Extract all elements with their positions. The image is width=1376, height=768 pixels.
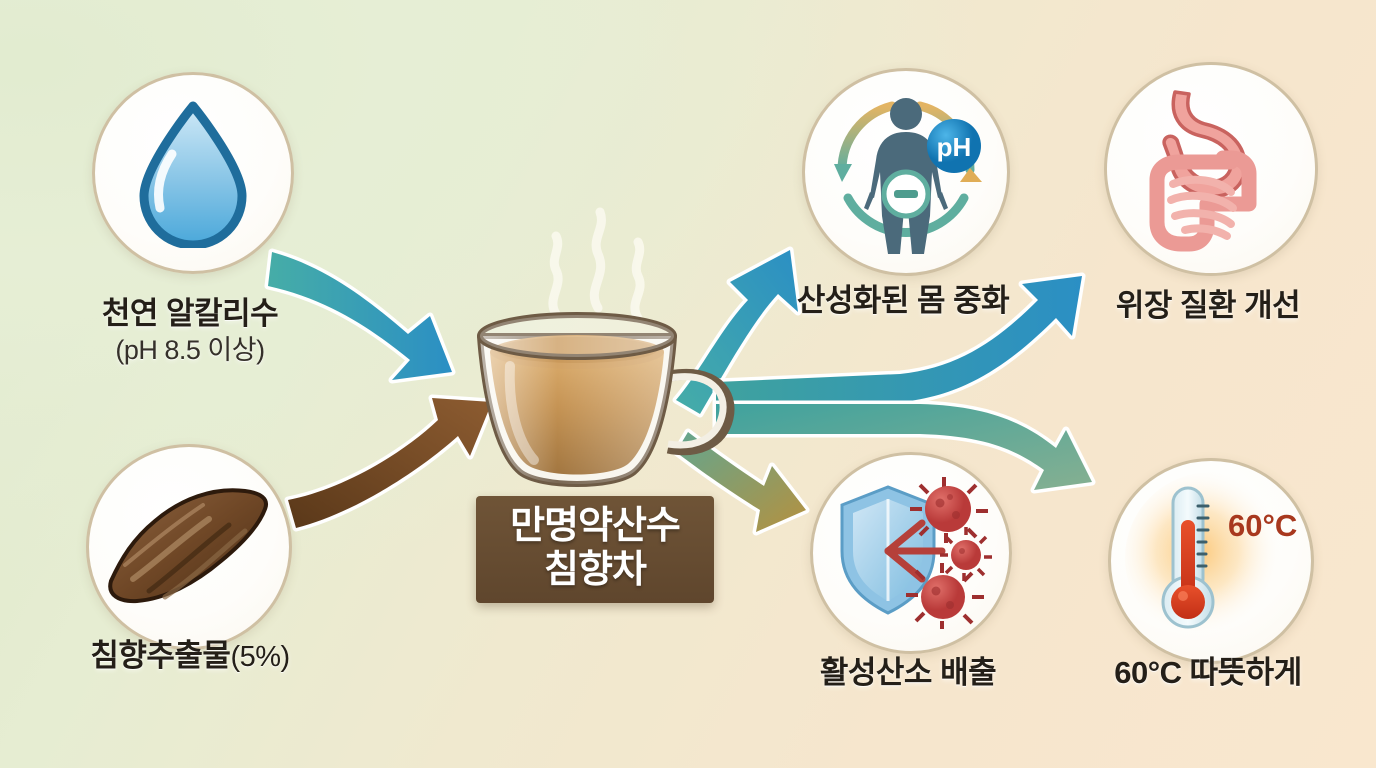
- water-drop-icon: [128, 98, 258, 248]
- label-body-neutralize-text: 산성화된 몸 중화: [797, 283, 1009, 318]
- steam-icon: [553, 212, 640, 318]
- label-alkaline-water-sub: (pH 8.5 이상): [40, 335, 340, 366]
- agarwood-icon: [103, 481, 275, 613]
- node-free-radical-release[interactable]: [810, 452, 1012, 654]
- label-gastro-improve: 위장 질환 개선: [1070, 288, 1346, 323]
- virus-icon-third: [906, 563, 984, 629]
- node-agarwood-extract[interactable]: [86, 444, 292, 650]
- label-alkaline-water: 천연 알칼리수 (pH 8.5 이상): [40, 296, 340, 366]
- label-warm-60c-text: 60°C 따뜻하게: [1114, 655, 1301, 690]
- label-agarwood-main: 침향추출물: [90, 638, 230, 673]
- product-name-badge: 만명약산수 침향차: [476, 496, 714, 603]
- label-agarwood-suffix: (5%): [230, 641, 289, 673]
- teacup-icon: [452, 186, 752, 506]
- virus-icon: [910, 477, 988, 543]
- label-gastro-improve-text: 위장 질환 개선: [1116, 288, 1300, 323]
- label-free-radical-text: 활성산소 배출: [820, 655, 996, 690]
- label-alkaline-water-main: 천연 알칼리수: [102, 296, 278, 331]
- product-name-line1: 만명약산수: [510, 505, 680, 547]
- node-gastro-improve[interactable]: [1104, 62, 1318, 276]
- label-warm-60c: 60°C 따뜻하게: [1068, 655, 1348, 690]
- shield-virus-icon: [826, 477, 996, 629]
- label-body-neutralize: 산성화된 몸 중화: [760, 283, 1046, 318]
- center-teacup[interactable]: [452, 186, 752, 506]
- node-body-neutralize[interactable]: pH: [802, 68, 1010, 276]
- infographic-canvas: 천연 알칼리수 (pH 8.5 이상) 침향추출물(5%): [0, 0, 1376, 768]
- label-agarwood-extract: 침향추출물(5%): [40, 638, 340, 674]
- node-alkaline-water[interactable]: [92, 72, 294, 274]
- thermometer-value: 60°C: [1228, 508, 1297, 543]
- ph-badge-text: pH: [937, 132, 972, 162]
- body-ph-balance-icon: pH: [820, 86, 992, 258]
- label-free-radical-release: 활성산소 배출: [770, 655, 1046, 690]
- product-name-line2: 침향차: [492, 548, 698, 592]
- thermometer-icon: 60°C: [1122, 472, 1300, 650]
- stomach-intestine-icon: [1127, 84, 1295, 254]
- node-warm-60c[interactable]: 60°C: [1108, 458, 1314, 664]
